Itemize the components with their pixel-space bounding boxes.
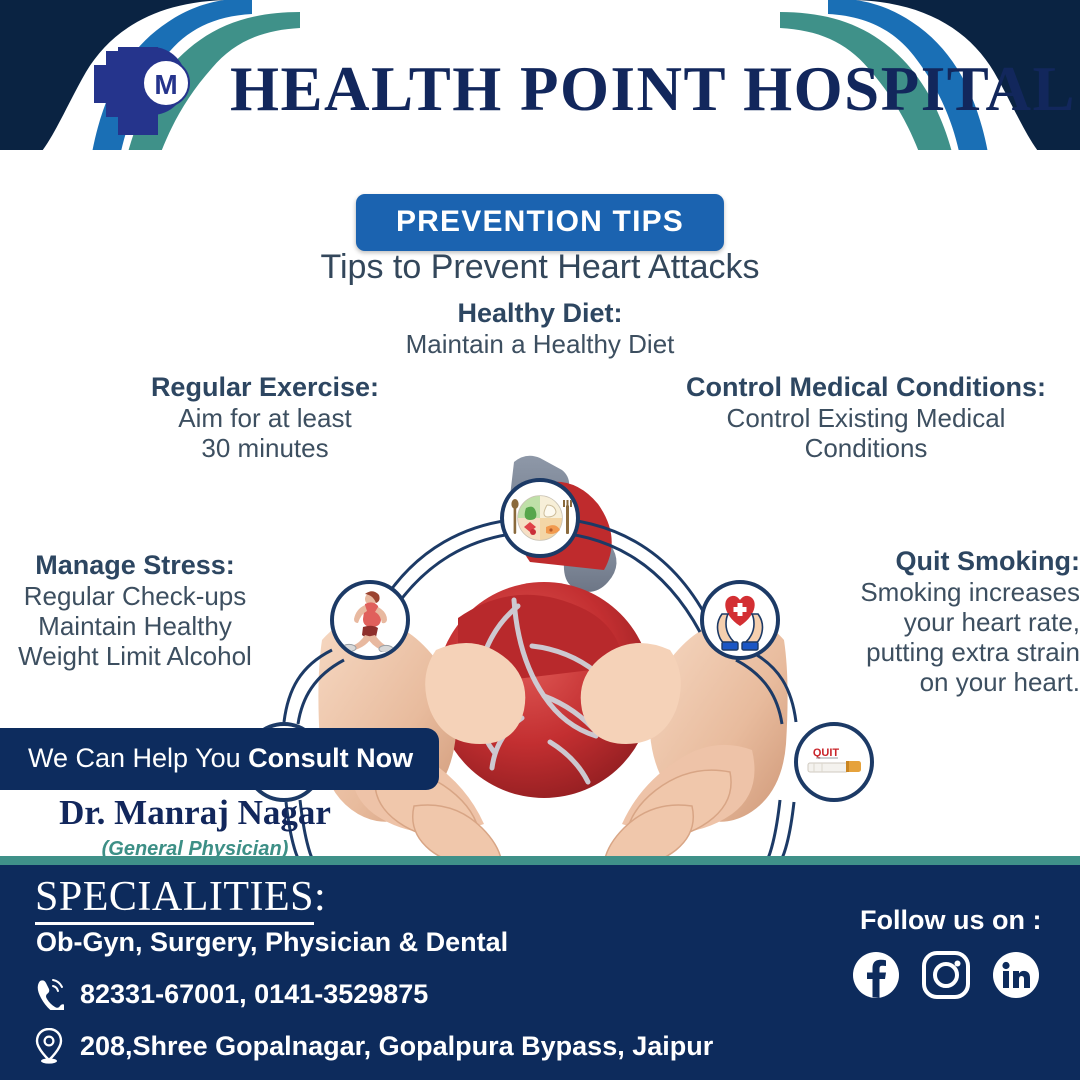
hands-heart-icon[interactable] xyxy=(700,580,780,660)
tip-heading: Healthy Diet: xyxy=(0,298,1080,328)
tip-body-line-1: Control Existing Medical xyxy=(676,404,1056,434)
tip-heading: Quit Smoking: xyxy=(848,546,1080,576)
social-icons xyxy=(852,951,1040,999)
tip-heading: Regular Exercise: xyxy=(140,372,390,402)
specialities-title-text: SPECIALITIES xyxy=(35,874,314,925)
hospital-name: HEALTH POINT HOSPITAL xyxy=(230,53,1076,126)
header: M HEALTH POINT HOSPITAL xyxy=(0,0,1080,175)
tip-body-line-1: Aim for at least xyxy=(140,404,390,434)
tip-manage-stress: Manage Stress: Regular Check-ups Maintai… xyxy=(4,550,266,672)
footer-divider xyxy=(0,856,1080,865)
tip-regular-exercise: Regular Exercise: Aim for at least 30 mi… xyxy=(140,372,390,464)
tip-quit-smoking: Quit Smoking: Smoking increases your hea… xyxy=(848,546,1080,698)
tip-body: Maintain a Healthy Diet xyxy=(0,330,1080,360)
address-row[interactable]: 208,Shree Gopalnagar, Gopalpura Bypass, … xyxy=(32,1027,713,1065)
linkedin-icon[interactable] xyxy=(992,951,1040,999)
footer: SPECIALITIES: Ob-Gyn, Surgery, Physician… xyxy=(0,865,1080,1080)
diet-plate-icon[interactable] xyxy=(500,478,580,558)
location-pin-icon xyxy=(32,1027,66,1065)
consult-now-banner[interactable]: We Can Help You Consult Now xyxy=(0,728,439,790)
quit-cigarette-icon[interactable]: QUIT xyxy=(794,722,874,802)
tip-body-line-2: Maintain Healthy xyxy=(4,612,266,642)
specialities-list: Ob-Gyn, Surgery, Physician & Dental xyxy=(36,927,508,958)
tip-body-line-2: Conditions xyxy=(676,434,1056,464)
poster-root: M HEALTH POINT HOSPITAL PREVENTION TIPS … xyxy=(0,0,1080,1080)
tip-heading: Manage Stress: xyxy=(4,550,266,580)
hospital-logo: M xyxy=(92,39,214,144)
tip-control-medical-conditions: Control Medical Conditions: Control Exis… xyxy=(676,372,1056,464)
tip-body-line-3: putting extra strain xyxy=(848,638,1080,668)
consult-emphasis-text: Consult Now xyxy=(248,743,413,773)
doctor-name: Dr. Manraj Nagar xyxy=(45,793,345,833)
tip-body-line-3: Weight Limit Alcohol xyxy=(4,642,266,672)
address-text: 208,Shree Gopalnagar, Gopalpura Bypass, … xyxy=(80,1031,713,1062)
facebook-icon[interactable] xyxy=(852,951,900,999)
follow-us-label: Follow us on : xyxy=(860,905,1041,936)
tip-healthy-diet: Healthy Diet: Maintain a Healthy Diet xyxy=(0,298,1080,360)
hp-monogram-icon: M xyxy=(92,39,214,144)
phone-number: 82331-67001, 0141-3529875 xyxy=(80,979,428,1010)
running-person-icon[interactable] xyxy=(330,580,410,660)
phone-icon xyxy=(32,975,66,1013)
tip-heading: Control Medical Conditions: xyxy=(676,372,1056,402)
instagram-icon[interactable] xyxy=(922,951,970,999)
main-content: PREVENTION TIPS Tips to Prevent Heart At… xyxy=(0,150,1080,860)
brand-row: M HEALTH POINT HOSPITAL xyxy=(0,0,1080,175)
tip-body-line-4: on your heart. xyxy=(848,668,1080,698)
phone-row[interactable]: 82331-67001, 0141-3529875 xyxy=(32,975,428,1013)
tip-body-line-2: 30 minutes xyxy=(140,434,390,464)
consult-lead-text: We Can Help You xyxy=(28,743,248,773)
specialities-title-colon: : xyxy=(314,874,326,920)
tip-body-line-1: Regular Check-ups xyxy=(4,582,266,612)
svg-text:M: M xyxy=(154,69,177,100)
specialities-title: SPECIALITIES: xyxy=(35,873,326,921)
tip-body-line-2: your heart rate, xyxy=(848,608,1080,638)
tip-body-line-1: Smoking increases xyxy=(848,578,1080,608)
